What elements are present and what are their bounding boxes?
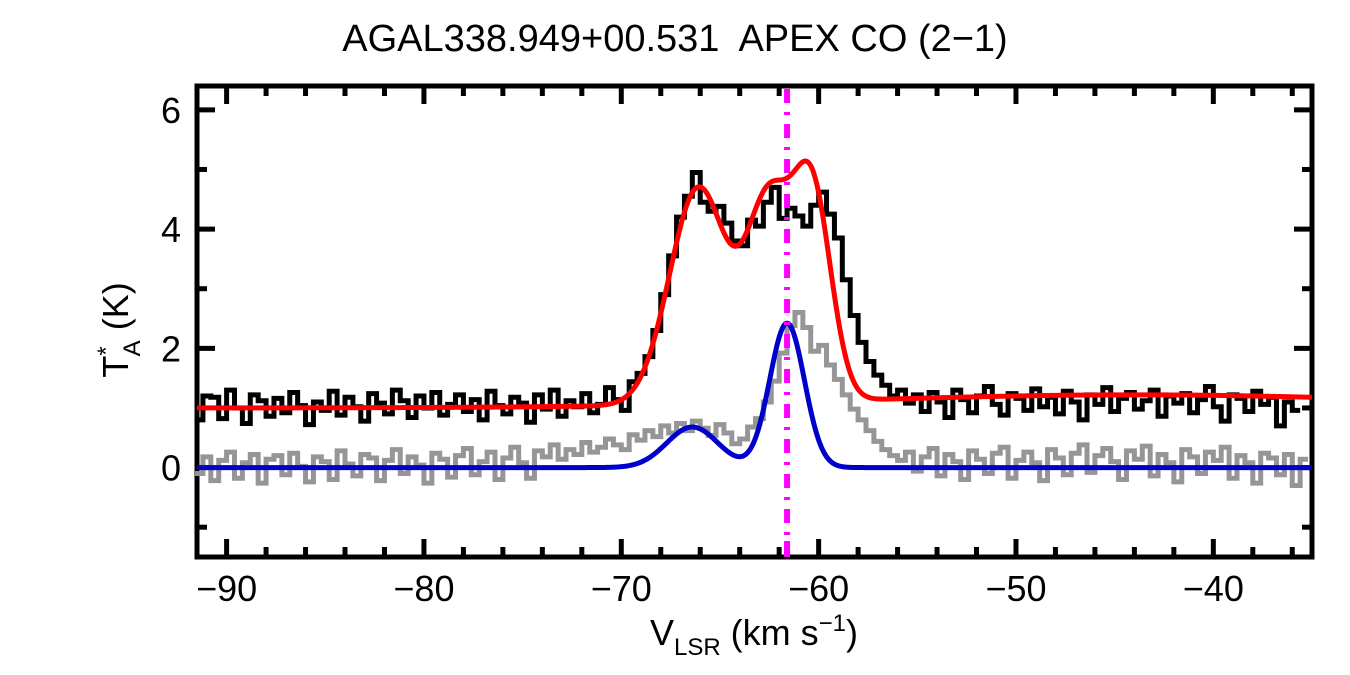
spectrum-figure: AGAL338.949+00.531 APEX CO (2−1) −90−80−… [0,0,1350,675]
x-tick-label: −40 [1183,568,1244,609]
x-axis-title-sub: LSR [674,634,721,661]
spectrum-histogram [195,172,1300,425]
x-axis-title-close: ) [846,612,858,653]
x-axis-title: VLSR (km s−1) [650,610,858,661]
x-axis-title-main: V [650,612,674,653]
y-axis-title-unit: (K) [95,282,136,340]
y-tick-label: 2 [161,328,181,369]
plot-frame [197,86,1312,557]
y-tick-label: 4 [161,209,181,250]
x-tick-label: −90 [196,568,257,609]
x-tick-label: −60 [788,568,849,609]
y-axis-title-sub: A [119,340,146,356]
y-axis-title-text: T*A (K) [93,282,146,377]
y-axis-title-main: T [95,356,136,378]
plot-canvas: −90−80−70−60−50−400246 T*A (K) VLSR (km … [0,0,1350,675]
tick-labels-group: −90−80−70−60−50−400246 [161,90,1244,609]
y-axis-title-sup: * [93,346,120,355]
y-tick-label: 6 [161,90,181,131]
x-tick-label: −50 [985,568,1046,609]
y-tick-label: 0 [161,448,181,489]
x-axis-title-unit: (km s [721,612,819,653]
x-tick-label: −80 [393,568,454,609]
y-axis-title: T*A (K) [93,282,146,377]
gaussian-fit-curve [197,161,1312,408]
x-tick-label: −70 [591,568,652,609]
axes-group [197,86,1312,557]
x-axis-title-sup: −1 [819,610,846,637]
data-series-group [195,161,1312,485]
x-axis-title-text: VLSR (km s−1) [650,610,858,661]
